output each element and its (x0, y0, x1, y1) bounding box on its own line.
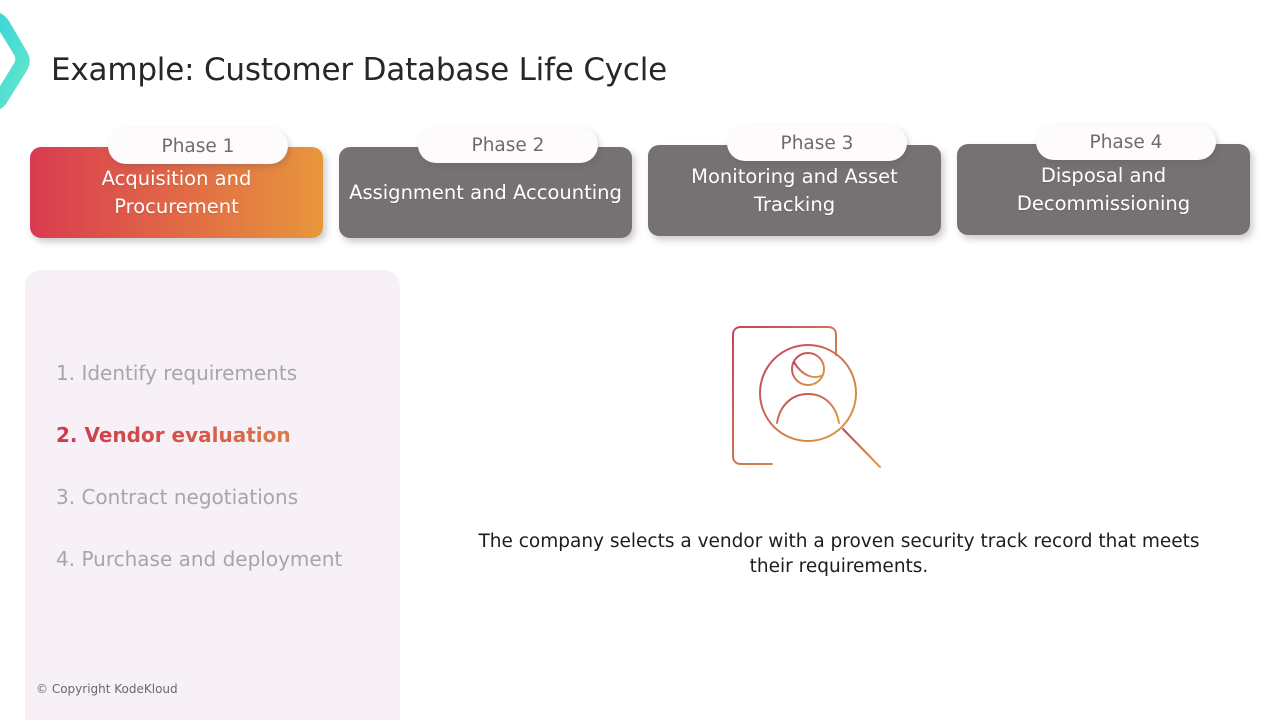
phase-pill-1[interactable]: Phase 1 (108, 128, 288, 164)
brand-chevron-logo (0, 8, 32, 112)
phase-card-3-title: Monitoring and Asset Tracking (648, 163, 941, 219)
phase-card-2-title: Assignment and Accounting (339, 179, 632, 207)
steps-panel: 1. Identify requirements 2. Vendor evalu… (25, 270, 400, 720)
step-item-1[interactable]: 1. Identify requirements (56, 360, 386, 386)
phase-card-1-title: Acquisition and Procurement (30, 165, 323, 221)
document-person-magnifier-icon (728, 322, 892, 480)
phase-pill-1-label: Phase 1 (162, 136, 235, 157)
steps-list: 1. Identify requirements 2. Vendor evalu… (56, 360, 386, 608)
step-item-4[interactable]: 4. Purchase and deployment (56, 546, 386, 572)
phase-pill-3-label: Phase 3 (781, 133, 854, 154)
copyright-notice: © Copyright KodeKloud (36, 682, 178, 696)
phase-pill-4[interactable]: Phase 4 (1036, 124, 1216, 160)
phase-strip: Acquisition and Procurement Phase 1 Assi… (0, 126, 1280, 241)
content-caption: The company selects a vendor with a prov… (455, 529, 1223, 579)
step-item-2[interactable]: 2. Vendor evaluation (56, 422, 386, 448)
phase-pill-4-label: Phase 4 (1090, 132, 1163, 153)
phase-pill-3[interactable]: Phase 3 (727, 125, 907, 161)
phase-pill-2-label: Phase 2 (472, 135, 545, 156)
step-item-3[interactable]: 3. Contract negotiations (56, 484, 386, 510)
phase-card-4-title: Disposal and Decommissioning (957, 162, 1250, 218)
page-title: Example: Customer Database Life Cycle (51, 52, 667, 88)
phase-pill-2[interactable]: Phase 2 (418, 127, 598, 163)
